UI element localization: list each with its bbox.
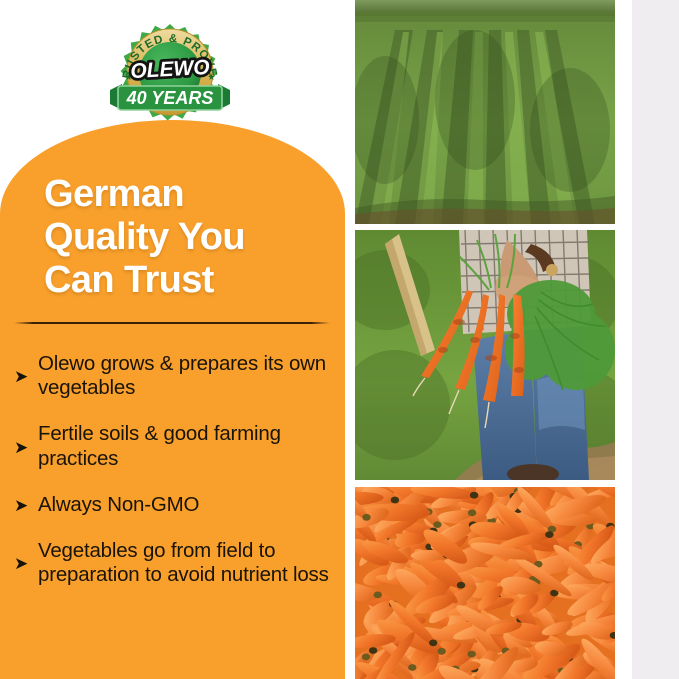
list-item: ➤ Vegetables go from field to preparatio… [14,539,344,587]
poster-root: German Quality You Can Trust ➤ Olewo gro… [0,0,679,679]
headline-line-2: Quality You [44,216,334,259]
arrow-bullet-icon: ➤ [14,367,38,385]
headline-line-1: German [44,173,334,216]
svg-text:OLEWO: OLEWO [130,56,210,83]
badge-ribbon: 40 YEARS [110,84,230,110]
photo-carrot-field-rows [355,0,615,224]
headline-line-3: Can Trust [44,259,334,302]
photo-farmer-holding-carrots [355,230,615,480]
divider-rule [14,322,330,324]
arrow-bullet-icon: ➤ [14,438,38,456]
list-item: ➤ Olewo grows & prepares its own vegetab… [14,352,344,400]
list-item-label: Olewo grows & prepares its own vegetable… [38,352,344,400]
right-gutter [632,0,679,679]
olewo-trust-badge: TRUSTED & PROVEN ★ ★ OLEWO OLEWO 40 YEAR… [106,18,234,136]
list-item: ➤ Fertile soils & good farming practices [14,422,344,470]
benefits-list: ➤ Olewo grows & prepares its own vegetab… [14,352,344,609]
list-item: ➤ Always Non-GMO [14,493,344,517]
svg-text:40 YEARS: 40 YEARS [126,88,214,108]
orange-info-panel: German Quality You Can Trust ➤ Olewo gro… [0,120,345,679]
list-item-label: Fertile soils & good farming practices [38,422,344,470]
photo-harvested-carrot-pile [355,487,615,679]
page-title: German Quality You Can Trust [44,173,334,302]
olewo-wordmark: OLEWO OLEWO [130,56,210,83]
list-item-label: Vegetables go from field to preparation … [38,539,344,587]
list-item-label: Always Non-GMO [38,493,344,517]
arrow-bullet-icon: ➤ [14,496,38,514]
arrow-bullet-icon: ➤ [14,554,38,572]
